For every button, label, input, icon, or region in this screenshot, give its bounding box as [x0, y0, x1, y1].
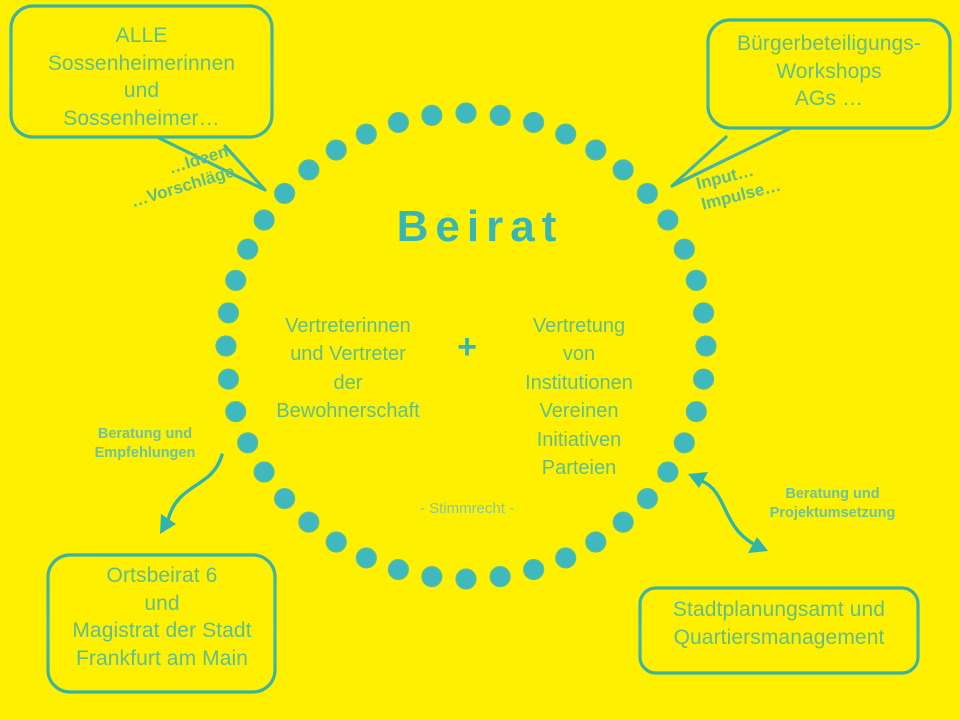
ring-dot — [254, 462, 274, 482]
ring-dot — [456, 103, 476, 123]
ring-dot — [326, 532, 346, 552]
ring-dot — [356, 124, 376, 144]
ring-dot — [613, 512, 633, 532]
ring-dot — [326, 140, 346, 160]
ring-dot — [356, 548, 376, 568]
bubble-workshops-text: Bürgerbeteiligungs-WorkshopsAGs … — [710, 30, 948, 113]
center-footnote-stimmrecht: - Stimmrecht - — [340, 500, 594, 517]
ring-dot — [556, 124, 576, 144]
ring-dot — [586, 532, 606, 552]
center-column-right: VertretungvonInstitutionenVereinenInitia… — [484, 312, 674, 482]
ring-dot — [226, 270, 246, 290]
ring-dot — [524, 560, 544, 580]
ring-dot — [238, 433, 258, 453]
ring-dot — [696, 336, 716, 356]
ring-dot — [226, 402, 246, 422]
ring-dot — [586, 140, 606, 160]
box-ortsbeirat-text: Ortsbeirat 6undMagistrat der StadtFrankf… — [52, 562, 272, 673]
ring-dot — [299, 160, 319, 180]
ring-dot — [275, 183, 295, 203]
ring-dot — [218, 369, 238, 389]
diagram-canvas: ALLESossenheimerinnenundSossenheimer… Bü… — [0, 0, 960, 720]
arrow-label-beratung-empfehlungen: Beratung undEmpfehlungen — [60, 425, 230, 463]
ring-dot — [456, 569, 476, 589]
ring-dot — [637, 183, 657, 203]
ring-dot — [388, 112, 408, 132]
ring-dot — [694, 303, 714, 323]
ring-dot — [637, 489, 657, 509]
bubble-citizens-text: ALLESossenheimerinnenundSossenheimer… — [14, 22, 269, 133]
page-title-beirat: Beirat — [0, 202, 960, 252]
ring-dot — [686, 270, 706, 290]
ring-dot — [524, 112, 544, 132]
ring-dot — [686, 402, 706, 422]
arrow-label-beratung-projektumsetzung: Beratung undProjektumsetzung — [740, 485, 925, 523]
ring-dot — [216, 336, 236, 356]
ring-dot — [218, 303, 238, 323]
ring-dot — [275, 489, 295, 509]
ring-dot — [490, 105, 510, 125]
ring-dot — [674, 433, 694, 453]
ring-dot — [422, 105, 442, 125]
ring-dot — [422, 567, 442, 587]
ring-dot — [556, 548, 576, 568]
box-stadtplanungsamt-text: Stadtplanungsamt undQuartiersmanagement — [644, 596, 914, 651]
ring-dot — [299, 512, 319, 532]
arrow-beratung-empfehlungen — [160, 455, 222, 534]
ring-dot — [490, 567, 510, 587]
ring-dot — [613, 160, 633, 180]
ring-dot — [388, 560, 408, 580]
ring-dot — [694, 369, 714, 389]
center-column-left: Vertreterinnenund VertreterderBewohnersc… — [250, 312, 446, 426]
